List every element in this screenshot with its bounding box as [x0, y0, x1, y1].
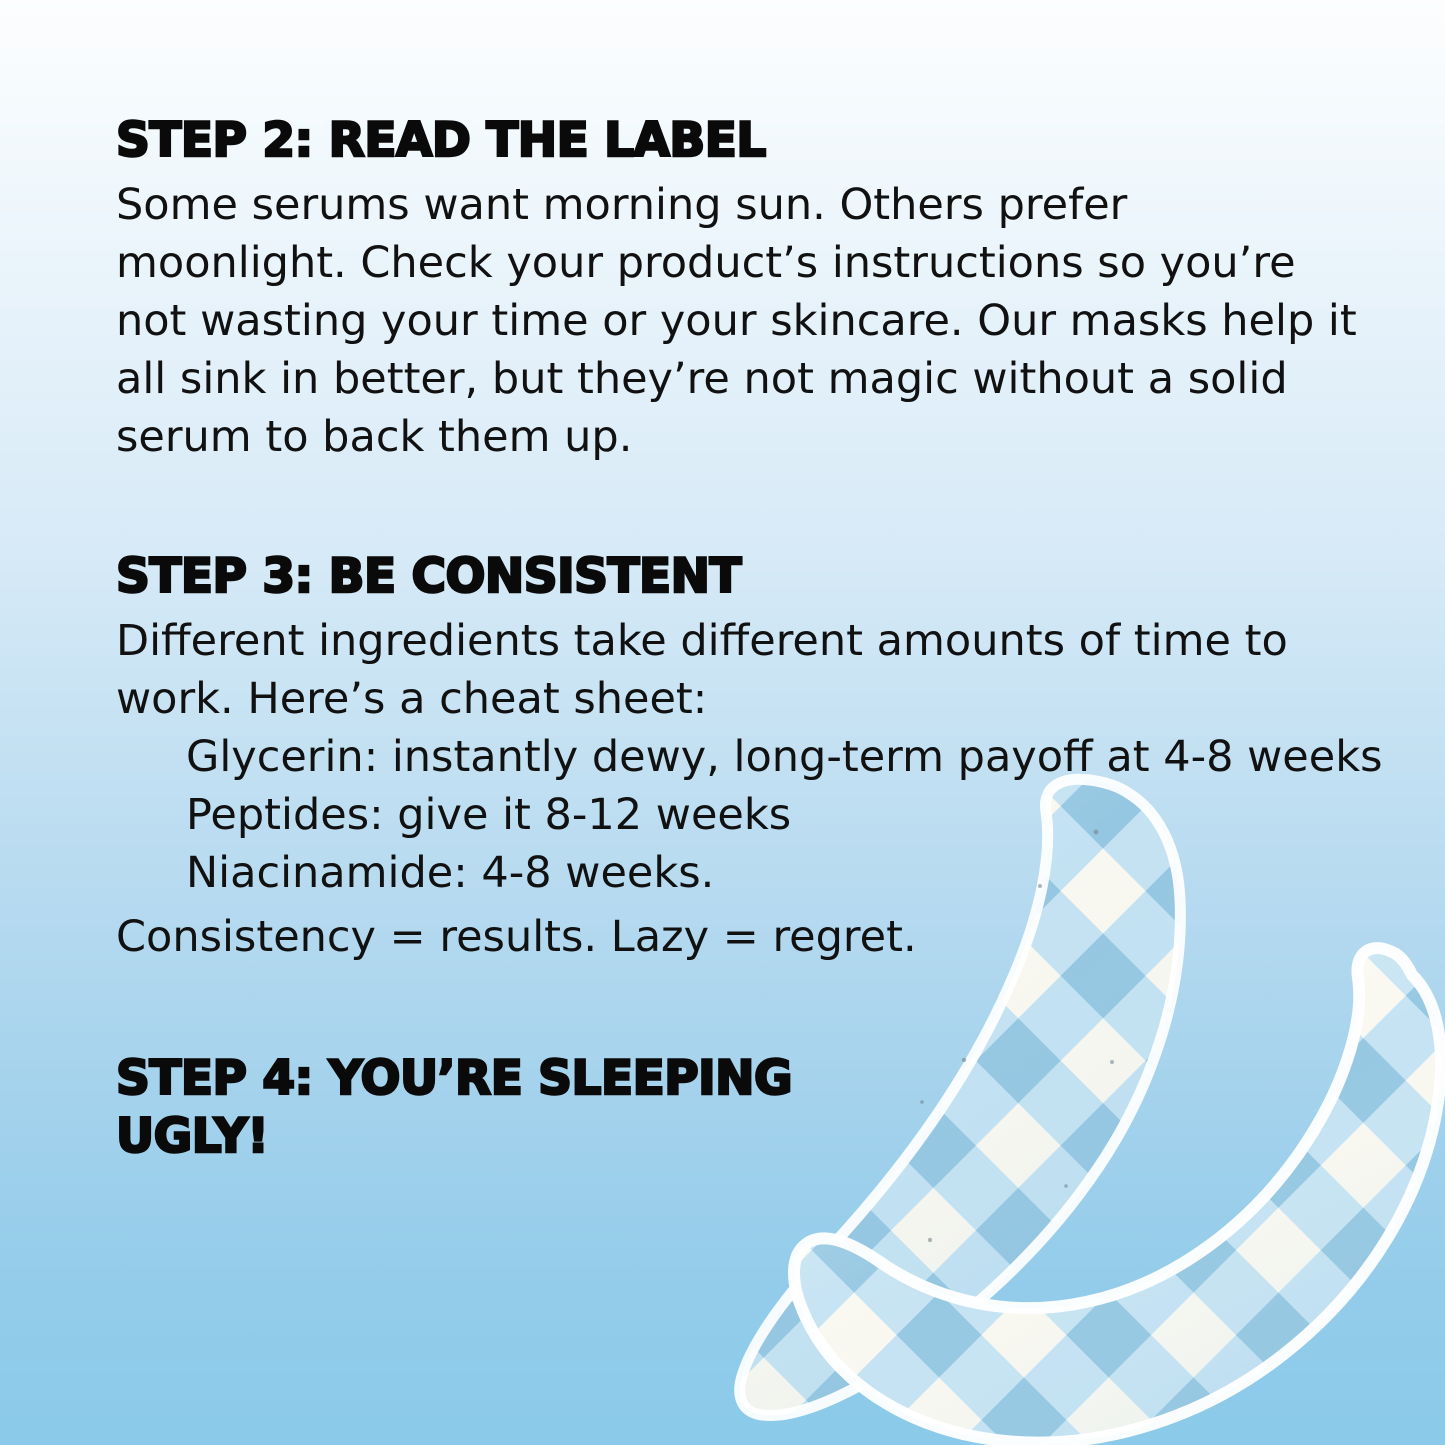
- heading-step-2: STEP 2: READ THE LABEL: [116, 112, 1361, 170]
- list-item: Niacinamide: 4-8 weeks.: [116, 844, 1361, 902]
- section-step-4: STEP 4: YOU’RE SLEEPING UGLY!: [116, 1050, 1361, 1166]
- list-item: Glycerin: instantly dewy, long-term payo…: [116, 728, 1361, 786]
- heading-step-4: STEP 4: YOU’RE SLEEPING UGLY!: [116, 1050, 1361, 1166]
- list-item: Peptides: give it 8-12 weeks: [116, 786, 1361, 844]
- section-step-2: STEP 2: READ THE LABEL Some serums want …: [116, 112, 1361, 466]
- paragraph-step-3: Different ingredients take different amo…: [116, 612, 1361, 728]
- heading-step-3: STEP 3: BE CONSISTENT: [116, 548, 1361, 606]
- content-column: STEP 2: READ THE LABEL Some serums want …: [116, 112, 1361, 1166]
- cheat-sheet-list: Glycerin: instantly dewy, long-term payo…: [116, 728, 1361, 902]
- paragraph-step-2: Some serums want morning sun. Others pre…: [116, 176, 1361, 466]
- section-step-3: STEP 3: BE CONSISTENT Different ingredie…: [116, 548, 1361, 966]
- closer-step-3: Consistency = results. Lazy = regret.: [116, 908, 1361, 966]
- poster-canvas: STEP 2: READ THE LABEL Some serums want …: [0, 0, 1445, 1445]
